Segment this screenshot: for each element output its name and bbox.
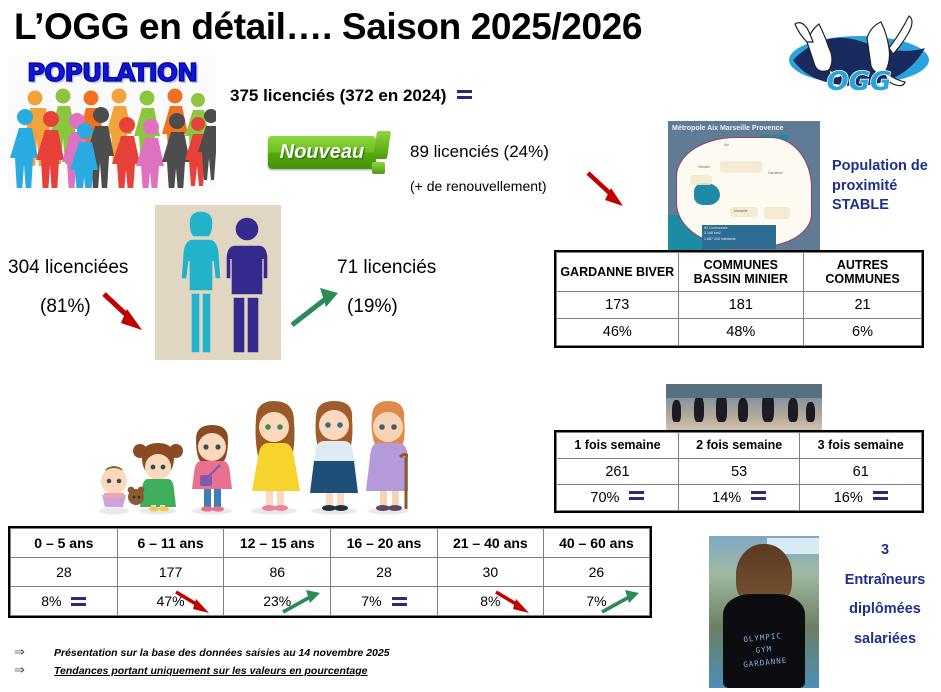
licencies-total-label: 375 licenciés (372 en 2024): [230, 86, 446, 105]
equal-trend-icon: [873, 491, 888, 500]
page-title: L’OGG en détail…. Saison 2025/2026: [14, 6, 642, 48]
table-row: 261 53 61: [557, 459, 922, 485]
ages-percent-0: 8%: [41, 593, 61, 609]
male-licencies-count: 71 licenciés: [337, 257, 436, 279]
table-row: 173 181 21: [557, 292, 922, 319]
frequency-value-2: 61: [800, 459, 922, 485]
table-row: 8% 47% 23%: [11, 587, 650, 616]
nouveau-licencies-line: 89 licenciés (24%): [410, 142, 549, 162]
footnote-row: ⇒ Présentation sur la base des données s…: [14, 644, 434, 660]
ogg-logo-graphic: OGG: [785, 8, 933, 108]
table-row: 1 fois semaine 2 fois semaine 3 fois sem…: [557, 433, 922, 459]
ages-value-5: 26: [543, 558, 649, 587]
frequency-percent-0: 70%: [590, 490, 619, 506]
frequency-percent-1: 14%: [712, 490, 741, 506]
gender-figures-icon: [155, 205, 281, 360]
ages-illustration: [96, 385, 408, 515]
ages-percent-cell-1: 47%: [117, 587, 224, 616]
entraineurs-label: Entraîneurs: [830, 566, 940, 596]
ages-figures-icon: [96, 385, 408, 515]
ages-header-3: 16 – 20 ans: [331, 529, 438, 558]
ogg-logo-text: OGG: [827, 67, 892, 97]
ages-value-2: 86: [224, 558, 331, 587]
population-proximite-label: Population de proximité STABLE: [832, 157, 938, 216]
ogg-logo: OGG: [785, 8, 933, 108]
frequency-header-0: 1 fois semaine: [557, 433, 679, 459]
footnote-text-2: Tendances portant uniquement sur les val…: [54, 665, 368, 677]
trend-down-arrow-icon: [585, 170, 627, 215]
trend-up-arrow-icon: [280, 589, 326, 615]
communes-header-2: AUTRES COMMUNES: [804, 253, 922, 292]
map-legend-line3: 1 887 406 habitants: [704, 237, 774, 242]
frequency-table: 1 fois semaine 2 fois semaine 3 fois sem…: [556, 432, 922, 511]
entraineurs-block: 3 Entraîneurs diplômées salariées: [830, 536, 940, 655]
ages-header-5: 40 – 60 ans: [543, 529, 649, 558]
communes-percent-2: 6%: [804, 319, 922, 346]
table-row: 70% 14% 16%: [557, 485, 922, 511]
frequency-value-1: 53: [678, 459, 800, 485]
population-clipart: POPULATION: [8, 56, 216, 188]
ages-header-4: 21 – 40 ans: [437, 529, 543, 558]
frequency-percent-cell-0: 70%: [557, 485, 679, 511]
communes-percent-1: 48%: [678, 319, 804, 346]
coach-photo: OLYMPIC GYM GARDANNE: [709, 536, 819, 688]
entraineurs-count: 3: [830, 536, 940, 566]
frequency-value-0: 261: [557, 459, 679, 485]
frequency-percent-2: 16%: [834, 490, 863, 506]
equal-trend-icon: [629, 491, 644, 500]
ages-table: 0 – 5 ans 6 – 11 ans 12 – 15 ans 16 – 20…: [10, 528, 650, 616]
equal-trend-icon: [751, 491, 766, 500]
frequency-header-1: 2 fois semaine: [678, 433, 800, 459]
frequency-percent-cell-2: 16%: [800, 485, 922, 511]
ages-percent-cell-3: 7%: [331, 587, 438, 616]
exclamation-icon: [369, 131, 395, 177]
male-licencies-percent: (19%): [347, 296, 398, 318]
tee-text: OLYMPIC GYM GARDANNE: [729, 629, 799, 673]
equal-trend-icon: [392, 597, 407, 606]
communes-header-1: COMMUNES BASSIN MINIER: [678, 253, 804, 292]
ages-value-1: 177: [117, 558, 224, 587]
female-licencies-percent: (81%): [40, 296, 91, 318]
ages-value-3: 28: [331, 558, 438, 587]
map-title: Métropole Aix Marseille Provence: [672, 125, 818, 132]
ages-percent-3: 7%: [361, 593, 381, 609]
ages-header-2: 12 – 15 ans: [224, 529, 331, 558]
communes-percent-0: 46%: [557, 319, 679, 346]
frequency-percent-cell-1: 14%: [678, 485, 800, 511]
ages-percent-cell-0: 8%: [11, 587, 118, 616]
entraineurs-salariees: salariées: [830, 625, 940, 655]
frequency-header-2: 3 fois semaine: [800, 433, 922, 459]
equal-trend-icon: [71, 597, 86, 606]
female-trend-down-arrow-icon: [100, 290, 150, 343]
communes-value-1: 181: [678, 292, 804, 319]
male-trend-up-arrow-icon: [288, 285, 344, 338]
double-arrow-icon: ⇒: [14, 662, 54, 678]
nouveau-renouvellement-line: (+ de renouvellement): [410, 178, 547, 194]
communes-header-0: GARDANNE BIVER: [557, 253, 679, 292]
ages-header-1: 6 – 11 ans: [117, 529, 224, 558]
female-licencies-count: 304 licenciées: [8, 257, 128, 279]
ages-percent-cell-5: 7%: [543, 587, 649, 616]
trend-down-arrow-icon: [173, 589, 219, 615]
communes-value-2: 21: [804, 292, 922, 319]
communes-table: GARDANNE BIVER COMMUNES BASSIN MINIER AU…: [556, 252, 922, 346]
gym-training-photo: [666, 384, 822, 430]
trend-up-arrow-icon: [599, 589, 645, 615]
footnote-text-1: Présentation sur la base des données sai…: [54, 647, 390, 659]
ages-percent-cell-4: 8%: [437, 587, 543, 616]
ages-percent-cell-2: 23%: [224, 587, 331, 616]
ages-value-4: 30: [437, 558, 543, 587]
double-arrow-icon: ⇒: [14, 644, 54, 660]
entraineurs-diplomees: diplômées: [830, 595, 940, 625]
equal-trend-icon: [457, 90, 472, 99]
nouveau-badge: Nouveau: [268, 131, 404, 179]
table-row: 46% 48% 6%: [557, 319, 922, 346]
ages-value-0: 28: [11, 558, 118, 587]
trend-down-arrow-icon: [493, 589, 539, 615]
table-row: 28 177 86 28 30 26: [11, 558, 650, 587]
map-legend: 92 Communes 3 148 km2 1 887 406 habitant…: [702, 225, 776, 249]
gender-pictogram-image: [155, 205, 281, 360]
footnote-row: ⇒ Tendances portant uniquement sur les v…: [14, 662, 434, 678]
population-figures-icon: [8, 56, 216, 188]
table-row: GARDANNE BIVER COMMUNES BASSIN MINIER AU…: [557, 253, 922, 292]
footnotes: ⇒ Présentation sur la base des données s…: [14, 644, 434, 680]
licencies-total-row: 375 licenciés (372 en 2024): [230, 86, 472, 106]
nouveau-badge-label: Nouveau: [268, 136, 376, 169]
communes-value-0: 173: [557, 292, 679, 319]
table-row: 0 – 5 ans 6 – 11 ans 12 – 15 ans 16 – 20…: [11, 529, 650, 558]
map-image: Métropole Aix Marseille Provence Aix Vit…: [668, 121, 820, 251]
ages-header-0: 0 – 5 ans: [11, 529, 118, 558]
